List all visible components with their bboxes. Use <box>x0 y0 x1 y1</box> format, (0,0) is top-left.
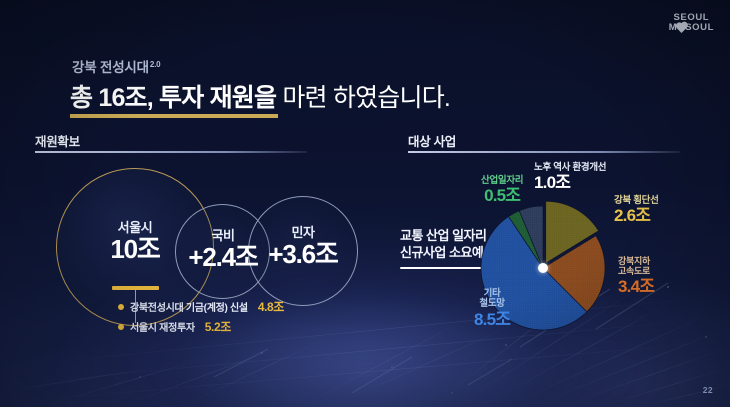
bullet-value: 5.2조 <box>205 318 231 335</box>
venn-label-private-caption: 민자 <box>250 226 356 240</box>
section-header-projects: 대상 사업 <box>408 131 456 150</box>
venn-label-seoul-value: 10조 <box>85 236 185 263</box>
pie-center-hub <box>538 263 548 273</box>
pie-callout-crossline-value: 2.6조 <box>614 207 659 226</box>
venn-label-private-value: +3.6조 <box>250 241 356 268</box>
pie-callout-crossline: 강북 횡단선 2.6조 <box>614 196 659 226</box>
venn-diagram: 서울시 10조 국비 +2.4조 민자 +3.6조 강북전성시대 기금(계정) … <box>0 0 400 407</box>
bullet-value: 4.8조 <box>258 298 284 315</box>
pie-callout-rail: 기타 철도망 8.5조 <box>474 289 510 330</box>
funding-breakdown-list: 강북전성시대 기금(계정) 신설 4.8조 서울시 재정투자 5.2조 <box>118 298 284 338</box>
pie-callout-rail-value: 8.5조 <box>474 311 510 330</box>
pie-callout-station: 노후 역사 환경개선 1.0조 <box>534 163 606 193</box>
seoul-my-soul-logo: SEOUL M SOUL <box>669 13 714 32</box>
pie-leader-line <box>400 267 488 269</box>
pie-callout-highway-label-line2: 고속도로 <box>618 267 654 277</box>
logo-line-2-suffix: SOUL <box>685 23 714 33</box>
venn-label-seoul-caption: 서울시 <box>85 221 185 235</box>
list-item: 서울시 재정투자 5.2조 <box>118 318 284 335</box>
bullet-dot-icon <box>118 304 124 310</box>
pie-callout-highway: 강북지하 고속도로 3.4조 <box>618 257 654 296</box>
venn-label-private: 민자 +3.6조 <box>250 226 356 268</box>
pie-callout-industry: 산업일자리 0.5조 <box>481 176 523 206</box>
bullet-label: 강북전성시대 기금(계정) 신설 <box>130 299 248 314</box>
venn-label-seoul: 서울시 10조 <box>85 221 185 263</box>
pie-callout-station-value: 1.0조 <box>534 174 606 193</box>
pie-callout-industry-label: 산업일자리 <box>481 176 523 186</box>
bullet-dot-icon <box>118 324 124 330</box>
pie-callout-rail-label-line2: 철도망 <box>474 299 510 309</box>
section-divider-projects <box>408 151 680 153</box>
list-item: 강북전성시대 기금(계정) 신설 4.8조 <box>118 298 284 315</box>
page-number: 22 <box>703 385 713 395</box>
pie-callout-crossline-label: 강북 횡단선 <box>614 196 659 206</box>
bullet-label: 서울시 재정투자 <box>130 319 195 334</box>
pie-callout-highway-value: 3.4조 <box>618 278 654 297</box>
slide-root: SEOUL M SOUL 강북 전성시대2.0 총 16조, 투자 재원을 마련… <box>0 0 730 407</box>
pie-callout-industry-value: 0.5조 <box>481 187 523 206</box>
logo-line-2: M SOUL <box>669 23 714 33</box>
pie-callout-station-label: 노후 역사 환경개선 <box>534 163 606 173</box>
